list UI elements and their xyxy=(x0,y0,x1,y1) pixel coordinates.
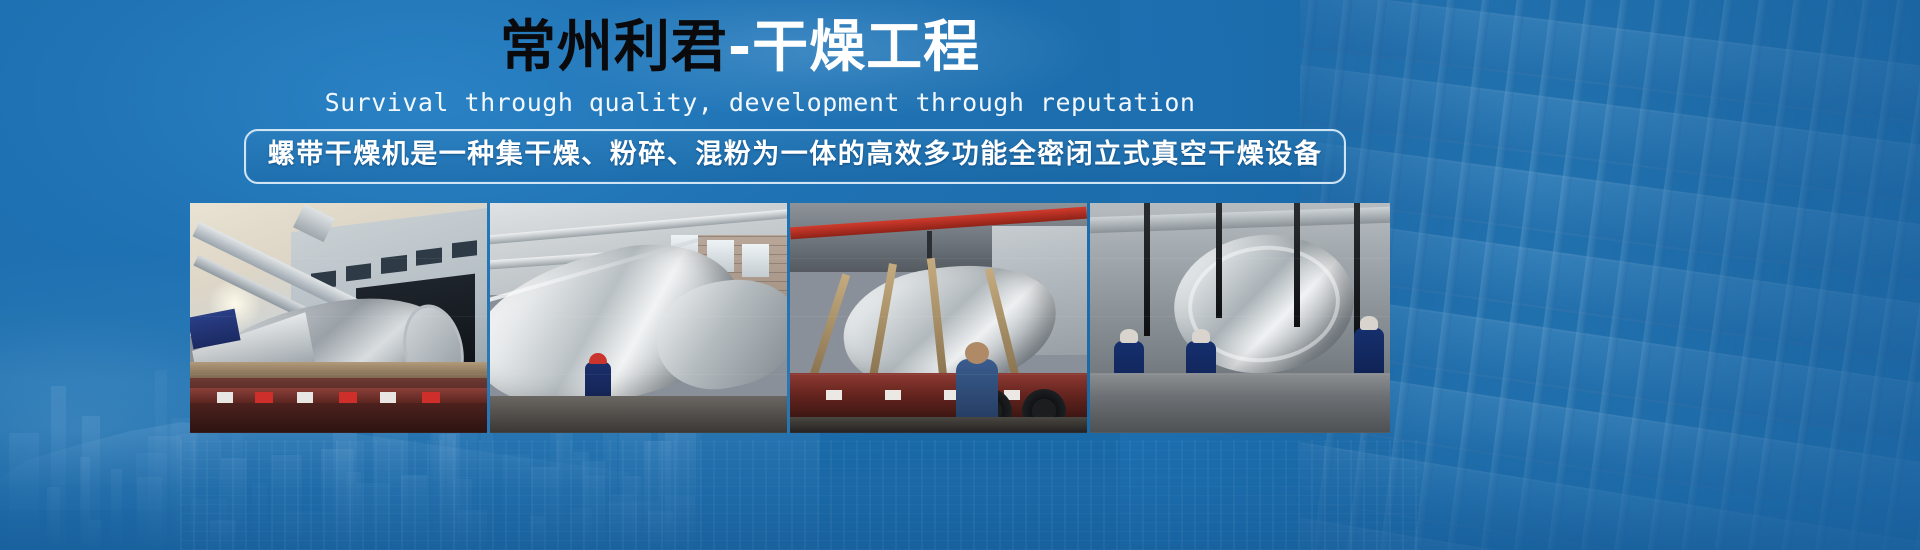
cityscape-building xyxy=(9,433,39,550)
slogan-container: 螺带干燥机是一种集干燥、粉碎、混粉为一体的高效多功能全密闭立式真空干燥设备 xyxy=(0,129,1590,184)
cityscape-building xyxy=(321,449,354,550)
facade-mullion xyxy=(1869,0,1920,550)
photo4-floor xyxy=(1090,373,1390,433)
photo-vessel-loading-with-crane[interactable] xyxy=(790,203,1087,433)
cityscape-building xyxy=(632,501,659,550)
promo-banner: 常州利君-干燥工程 Survival through quality, deve… xyxy=(0,0,1920,550)
background-skyscraper-facade xyxy=(1300,0,1920,550)
cityscape-building xyxy=(430,430,444,550)
cityscape-building xyxy=(439,434,456,550)
cityscape-building xyxy=(644,441,671,550)
facade-mullion xyxy=(1603,0,1707,550)
cityscape-building xyxy=(624,476,641,550)
facade-mullion xyxy=(1902,0,1920,550)
cityscape-building xyxy=(531,467,557,550)
photo-workers-assembling-vessel[interactable] xyxy=(1090,203,1390,433)
facade-mullion xyxy=(1436,0,1533,550)
cityscape-building xyxy=(171,418,197,550)
background-bottom-texture xyxy=(0,430,1920,550)
photo3-ground xyxy=(790,417,1087,433)
photo1-truck-body xyxy=(190,378,487,433)
cityscape-building xyxy=(530,516,544,550)
cityscape-building xyxy=(336,441,361,550)
cityscape-building xyxy=(481,432,493,550)
page-title: 常州利君-干燥工程 xyxy=(0,14,1480,82)
cityscape-building xyxy=(573,452,589,550)
facade-mullion xyxy=(1702,0,1810,550)
cityscape-building xyxy=(89,520,101,550)
facade-floor-band xyxy=(1300,404,1920,550)
facade-mullion xyxy=(1403,0,1498,550)
cityscape-building xyxy=(684,419,696,550)
cityscape-building xyxy=(346,472,362,550)
facade-mullion xyxy=(1835,0,1920,550)
cityscape-building xyxy=(356,483,390,550)
facade-floor-band xyxy=(1300,182,1920,393)
facade-mullion xyxy=(1469,0,1567,550)
photo4-hoist-chain-4 xyxy=(1354,203,1360,341)
cityscape-building xyxy=(658,432,678,550)
facade-mullion xyxy=(1503,0,1603,550)
page-title-company: 常州利君 xyxy=(500,15,728,80)
facade-mullion xyxy=(1636,0,1741,550)
cityscape-building xyxy=(176,434,196,550)
cityscape-building xyxy=(457,510,486,550)
facade-floor-band xyxy=(1300,478,1920,550)
slogan-text: 螺带干燥机是一种集干燥、粉碎、混粉为一体的高效多功能全密闭立式真空干燥设备 xyxy=(268,139,1323,171)
cityscape-building xyxy=(571,508,593,550)
cityscape-building xyxy=(442,414,477,550)
photo-tank-in-workshop[interactable] xyxy=(490,203,787,433)
cityscape-building xyxy=(252,483,267,550)
photo-strip xyxy=(190,203,1390,433)
facade-floor-band xyxy=(1300,256,1920,474)
photo2-floor xyxy=(490,396,787,433)
cityscape-building xyxy=(51,386,66,550)
cityscape-building xyxy=(137,477,161,550)
cityscape-building xyxy=(136,453,167,550)
cityscape-building xyxy=(148,436,181,550)
photo4-hoist-chain-2 xyxy=(1216,203,1222,318)
cityscape-building xyxy=(284,511,320,550)
facade-floor-band xyxy=(1300,330,1920,550)
photo2-window-1 xyxy=(742,244,769,276)
cityscape-building xyxy=(609,502,637,550)
facade-light-wash xyxy=(1300,0,1920,550)
cityscape-building xyxy=(665,496,695,550)
cityscape-building xyxy=(603,421,617,550)
cityscape-building xyxy=(82,416,100,550)
cityscape-building xyxy=(155,370,167,550)
photo4-hoist-chain-3 xyxy=(1294,203,1300,327)
cityscape-building xyxy=(612,494,634,550)
photo3-support-strut-1 xyxy=(809,273,849,376)
cityscape-building xyxy=(111,469,122,550)
cityscape-building xyxy=(401,475,427,550)
facade-mullion xyxy=(1569,0,1671,550)
facade-mullion xyxy=(1736,0,1846,550)
photo4-hoist-chain-1 xyxy=(1144,203,1150,336)
cityscape-building xyxy=(272,455,302,550)
cityscape-building xyxy=(502,454,530,550)
photo-vessel-on-flatbed-truck[interactable] xyxy=(190,203,487,433)
facade-mullion xyxy=(1536,0,1637,550)
page-title-business: -干燥工程 xyxy=(728,15,980,80)
cityscape-building xyxy=(582,461,605,550)
tagline: Survival through quality, development th… xyxy=(0,88,1520,117)
cityscape-building xyxy=(648,511,673,550)
cityscape-building xyxy=(210,520,236,550)
facade-mullion xyxy=(1802,0,1915,550)
facade-glass-tint xyxy=(1300,0,1920,550)
cityscape-building xyxy=(453,479,472,550)
facade-mullion xyxy=(1669,0,1776,550)
cityscape-building xyxy=(221,458,246,550)
cityscape-building xyxy=(80,457,90,550)
photo1-truck-deck xyxy=(190,362,487,378)
slogan-box: 螺带干燥机是一种集干燥、粉碎、混粉为一体的高效多功能全密闭立式真空干燥设备 xyxy=(244,129,1347,184)
cityscape-building xyxy=(47,487,60,550)
cityscape-building xyxy=(585,475,605,550)
cityscape-building xyxy=(191,499,227,550)
facade-mullion xyxy=(1769,0,1880,550)
